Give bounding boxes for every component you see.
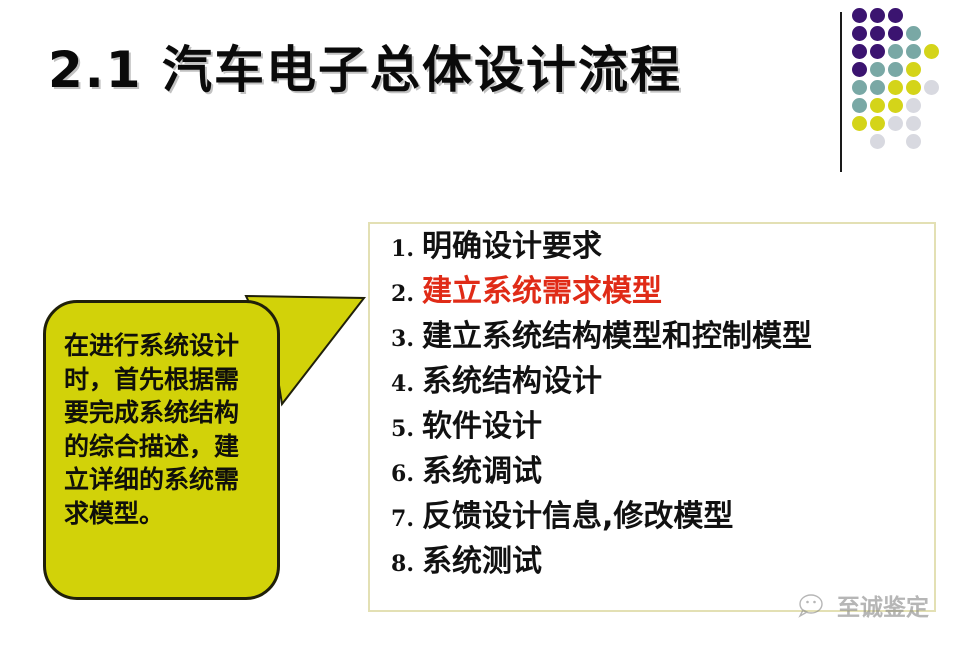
slide-canvas: 2.1 汽车电子总体设计流程 1.明确设计要求2.建立系统需求模型3.建立系统结… [0, 0, 960, 652]
callout-balloon: 在进行系统设计时，首先根据需要完成系统结构的综合描述，建立详细的系统需求模型。 [43, 300, 280, 600]
list-item: 7.反馈设计信息,修改模型 [380, 502, 934, 547]
list-item: 3.建立系统结构模型和控制模型 [380, 322, 934, 367]
decorative-dot [888, 62, 903, 77]
list-item: 4.系统结构设计 [380, 367, 934, 412]
list-item: 6.系统调试 [380, 457, 934, 502]
decorative-dot [906, 62, 921, 77]
decorative-dot [906, 80, 921, 95]
page-title: 2.1 汽车电子总体设计流程 [48, 30, 682, 102]
decorative-dot [924, 80, 939, 95]
list-item-label: 软件设计 [422, 412, 542, 442]
decorative-dot [888, 98, 903, 113]
decorative-dot [870, 62, 885, 77]
decorative-dot [870, 134, 885, 149]
decorative-vertical-rule [840, 12, 842, 172]
list-item: 8.系统测试 [380, 547, 934, 592]
list-item-number: 3. [380, 326, 422, 352]
decorative-dot [852, 26, 867, 41]
list-item-label: 系统调试 [422, 457, 542, 487]
list-item-number: 7. [380, 506, 422, 532]
decorative-dot [906, 26, 921, 41]
decorative-dot [852, 44, 867, 59]
decorative-dot [870, 26, 885, 41]
decorative-dot [888, 26, 903, 41]
list-item-number: 1. [380, 236, 422, 262]
decorative-dot-grid [852, 8, 956, 168]
wechat-bubble-icon [798, 592, 830, 618]
list-item: 1.明确设计要求 [380, 232, 934, 277]
watermark-label: 至诚鉴定 [837, 588, 929, 622]
design-flow-list-box: 1.明确设计要求2.建立系统需求模型3.建立系统结构模型和控制模型4.系统结构设… [368, 222, 936, 612]
list-item: 2.建立系统需求模型 [380, 277, 934, 322]
decorative-dot [870, 44, 885, 59]
list-item-label: 建立系统结构模型和控制模型 [422, 322, 812, 352]
decorative-dot [924, 44, 939, 59]
decorative-dot [906, 98, 921, 113]
decorative-dot [888, 80, 903, 95]
list-item: 5.软件设计 [380, 412, 934, 457]
watermark: 至诚鉴定 [798, 588, 929, 622]
list-item-number: 2. [380, 281, 422, 307]
decorative-dot [888, 44, 903, 59]
decorative-dot [852, 116, 867, 131]
decorative-dot [888, 116, 903, 131]
list-item-number: 4. [380, 371, 422, 397]
callout-text: 在进行系统设计时，首先根据需要完成系统结构的综合描述，建立详细的系统需求模型。 [46, 303, 277, 530]
list-item-number: 8. [380, 551, 422, 577]
list-item-label: 系统测试 [422, 547, 542, 577]
design-flow-list: 1.明确设计要求2.建立系统需求模型3.建立系统结构模型和控制模型4.系统结构设… [370, 224, 934, 592]
decorative-dot [906, 116, 921, 131]
list-item-label: 明确设计要求 [422, 232, 602, 262]
list-item-label: 建立系统需求模型 [422, 277, 662, 307]
decorative-dot [852, 98, 867, 113]
decorative-dot [906, 44, 921, 59]
list-item-number: 5. [380, 416, 422, 442]
decorative-dot [870, 116, 885, 131]
decorative-dot [870, 80, 885, 95]
decorative-dot [852, 80, 867, 95]
decorative-dot [852, 62, 867, 77]
decorative-dot [870, 8, 885, 23]
decorative-dot [852, 8, 867, 23]
decorative-dot [870, 98, 885, 113]
list-item-number: 6. [380, 461, 422, 487]
decorative-dot [888, 8, 903, 23]
list-item-label: 系统结构设计 [422, 367, 602, 397]
decorative-dot [906, 134, 921, 149]
list-item-label: 反馈设计信息,修改模型 [422, 502, 733, 532]
